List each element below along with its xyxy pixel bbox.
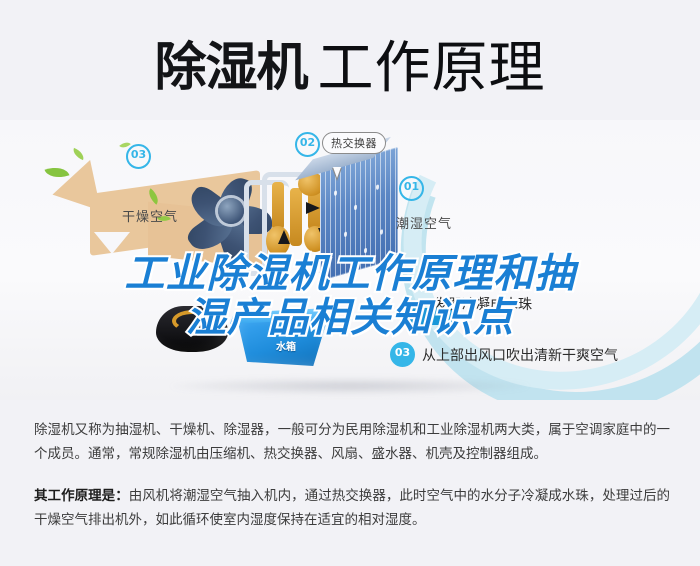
label-dry-air: 干燥空气 <box>122 206 178 225</box>
compressor <box>156 306 228 352</box>
water-tank-label: 水箱 <box>276 338 296 353</box>
heat-exchanger <box>320 147 398 281</box>
illustration-stage: 水箱 01 潮湿空气 02 热交换器 03 干燥空气 02 发器冷凝成水珠 03… <box>0 120 700 400</box>
page-title-part-1: 除湿机 <box>154 42 307 94</box>
step-note-02: 02 发器冷凝成水珠 <box>434 294 532 314</box>
paragraph-2-rest: 由风机将潮湿空气抽入机内，通过热交换器，此时空气中的水分子冷凝成水珠，处理过后的… <box>34 488 670 528</box>
paragraph-2-lead: 其工作原理是： <box>34 488 129 504</box>
step-note-text-02: 发器冷凝成水珠 <box>434 294 532 314</box>
paragraph-1: 除湿机又称为抽湿机、干燥机、除湿器，一般可分为民用除湿机和工业除湿机两大类，属于… <box>34 418 670 466</box>
water-tank: 水箱 <box>230 308 336 372</box>
page-title-part-2: 工作原理 <box>318 40 546 96</box>
illustration-shadow <box>170 378 530 394</box>
copper-coil <box>272 182 284 230</box>
step-note-03: 03 从上部出风口吹出清新干爽空气 <box>390 342 618 367</box>
flow-arrow-up-icon <box>278 230 290 244</box>
copper-coil <box>290 188 302 246</box>
step-note-text-03: 从上部出风口吹出清新干爽空气 <box>422 345 618 365</box>
compressor-coil <box>172 310 214 332</box>
step-note-badge-03: 03 <box>390 342 415 367</box>
paragraph-2: 其工作原理是：由风机将潮湿空气抽入机内，通过热交换器，此时空气中的水分子冷凝成水… <box>34 484 670 532</box>
label-humid-air: 潮湿空气 <box>396 213 452 232</box>
step-badge-01: 01 <box>399 176 424 201</box>
callout-heat-exchanger: 热交换器 <box>322 132 386 154</box>
page-root: 除湿机 工作原理 <box>0 0 700 566</box>
fan-hub <box>218 198 244 224</box>
flow-arrow-right-icon <box>306 202 320 214</box>
step-badge-02: 02 <box>295 132 320 157</box>
page-title: 除湿机 工作原理 <box>0 28 700 108</box>
dry-air-arrow-notch <box>94 232 130 254</box>
callout-tail <box>332 168 342 181</box>
step-badge-03: 03 <box>126 144 151 169</box>
article-body: 除湿机又称为抽湿机、干燥机、除湿器，一般可分为民用除湿机和工业除湿机两大类，属于… <box>34 418 670 550</box>
